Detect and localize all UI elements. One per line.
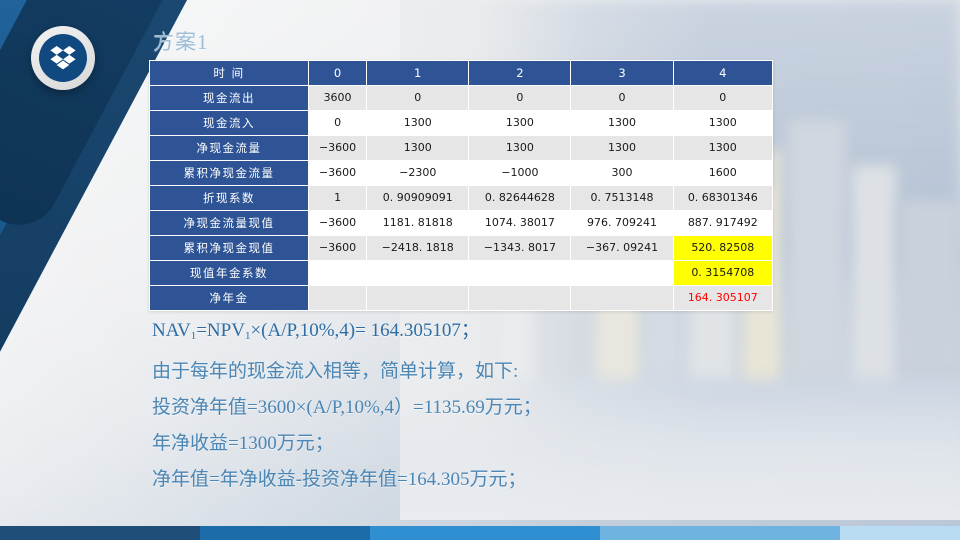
table-row: 现金流入01300130013001300 xyxy=(150,111,773,136)
bottom-strip-segment xyxy=(200,526,370,540)
table-cell: 0. 82644628 xyxy=(469,186,571,211)
table-row: 现金流出36000000 xyxy=(150,86,773,111)
table-cell: 0 xyxy=(571,86,673,111)
table-row-label: 净现金流量 xyxy=(150,136,309,161)
table-row-label: 现金流入 xyxy=(150,111,309,136)
table-cell: −3600 xyxy=(309,136,367,161)
table-cell: 1 xyxy=(309,186,367,211)
table-cell xyxy=(309,261,367,286)
table-cell: 1181. 81818 xyxy=(367,211,469,236)
explanation-line: NAV1=NPV1×(A/P,10%,4)= 164.305107； xyxy=(152,313,852,354)
table-cell: −3600 xyxy=(309,211,367,236)
table-cell: −1343. 8017 xyxy=(469,236,571,261)
page-title: 方案1 xyxy=(153,26,209,56)
table-row: 净现金流量−36001300130013001300 xyxy=(150,136,773,161)
table-cell xyxy=(469,261,571,286)
table-cell: −2418. 1818 xyxy=(367,236,469,261)
table-cell: 0. 90909091 xyxy=(367,186,469,211)
dropbox-logo-icon xyxy=(39,34,87,82)
table-row-label: 现金流出 xyxy=(150,86,309,111)
explanation-line: 由于每年的现金流入相等，简单计算，如下: xyxy=(152,354,852,390)
table-header-label: 时 间 xyxy=(150,61,309,86)
table-row: 累积净现金流量−3600−2300−10003001600 xyxy=(150,161,773,186)
brand-logo xyxy=(31,26,95,90)
table-header-period: 3 xyxy=(571,61,673,86)
table-row: 净现金流量现值−36001181. 818181074. 38017976. 7… xyxy=(150,211,773,236)
table-cell: 3600 xyxy=(309,86,367,111)
bottom-strip-segment xyxy=(840,526,960,540)
table-header-period: 0 xyxy=(309,61,367,86)
table-cell: 1300 xyxy=(367,136,469,161)
explanation-line: 年净收益=1300万元； xyxy=(152,426,852,462)
table-cell: 0. 3154708 xyxy=(673,261,772,286)
table-cell: 976. 709241 xyxy=(571,211,673,236)
table-cell xyxy=(571,286,673,311)
table-row-label: 现值年金系数 xyxy=(150,261,309,286)
explanation-line: 净年值=年净收益-投资净年值=164.305万元； xyxy=(152,462,852,498)
table-row-label: 净现金流量现值 xyxy=(150,211,309,236)
table-cell: 0 xyxy=(673,86,772,111)
table-cell xyxy=(367,286,469,311)
table-header-row: 时 间 0 1 2 3 4 xyxy=(150,61,773,86)
table-body: 时 间 0 1 2 3 4 现金流出36000000现金流入0130013001… xyxy=(150,61,773,311)
table-cell: 164. 305107 xyxy=(673,286,772,311)
table-cell xyxy=(469,286,571,311)
bottom-strip-segment xyxy=(370,526,600,540)
table-cell: 1300 xyxy=(673,111,772,136)
explanation-line: 投资净年值=3600×(A/P,10%,4）=1135.69万元； xyxy=(152,390,852,426)
table-cell: −367. 09241 xyxy=(571,236,673,261)
table-cell: 0. 68301346 xyxy=(673,186,772,211)
bottom-strip-segment xyxy=(0,526,200,540)
table-cell: 1300 xyxy=(469,111,571,136)
table-cell xyxy=(309,286,367,311)
table-cell: −1000 xyxy=(469,161,571,186)
table-cell: 1300 xyxy=(367,111,469,136)
table-cell: 0 xyxy=(367,86,469,111)
table-cell: 520. 82508 xyxy=(673,236,772,261)
table-cell xyxy=(571,261,673,286)
table-row: 折现系数10. 909090910. 826446280. 75131480. … xyxy=(150,186,773,211)
table-header-period: 2 xyxy=(469,61,571,86)
table-cell: 1300 xyxy=(469,136,571,161)
slide-canvas: 方案1 时 间 0 1 2 3 4 现金流出36000000现金流入013001… xyxy=(0,0,960,540)
bottom-color-strip xyxy=(0,526,960,540)
table-row-label: 累积净现金现值 xyxy=(150,236,309,261)
table-cell: 300 xyxy=(571,161,673,186)
table-cell: −3600 xyxy=(309,161,367,186)
table-row: 累积净现金现值−3600−2418. 1818−1343. 8017−367. … xyxy=(150,236,773,261)
table-row: 净年金164. 305107 xyxy=(150,286,773,311)
table-cell: −3600 xyxy=(309,236,367,261)
table-cell: 0 xyxy=(469,86,571,111)
table-cell: −2300 xyxy=(367,161,469,186)
table-row-label: 折现系数 xyxy=(150,186,309,211)
table-cell: 1300 xyxy=(571,136,673,161)
table-cell: 1300 xyxy=(673,136,772,161)
explanation-text-block: NAV1=NPV1×(A/P,10%,4)= 164.305107；由于每年的现… xyxy=(152,313,852,498)
table-header-period: 1 xyxy=(367,61,469,86)
table-header-period: 4 xyxy=(673,61,772,86)
table-cell: 0 xyxy=(309,111,367,136)
bottom-strip-segment xyxy=(600,526,840,540)
table-cell: 1600 xyxy=(673,161,772,186)
table-row: 现值年金系数0. 3154708 xyxy=(150,261,773,286)
table-cell: 887. 917492 xyxy=(673,211,772,236)
table-row-label: 净年金 xyxy=(150,286,309,311)
table-cell xyxy=(367,261,469,286)
table-cell: 1300 xyxy=(571,111,673,136)
cash-flow-table: 时 间 0 1 2 3 4 现金流出36000000现金流入0130013001… xyxy=(149,60,773,311)
table-cell: 0. 7513148 xyxy=(571,186,673,211)
table-row-label: 累积净现金流量 xyxy=(150,161,309,186)
table-cell: 1074. 38017 xyxy=(469,211,571,236)
